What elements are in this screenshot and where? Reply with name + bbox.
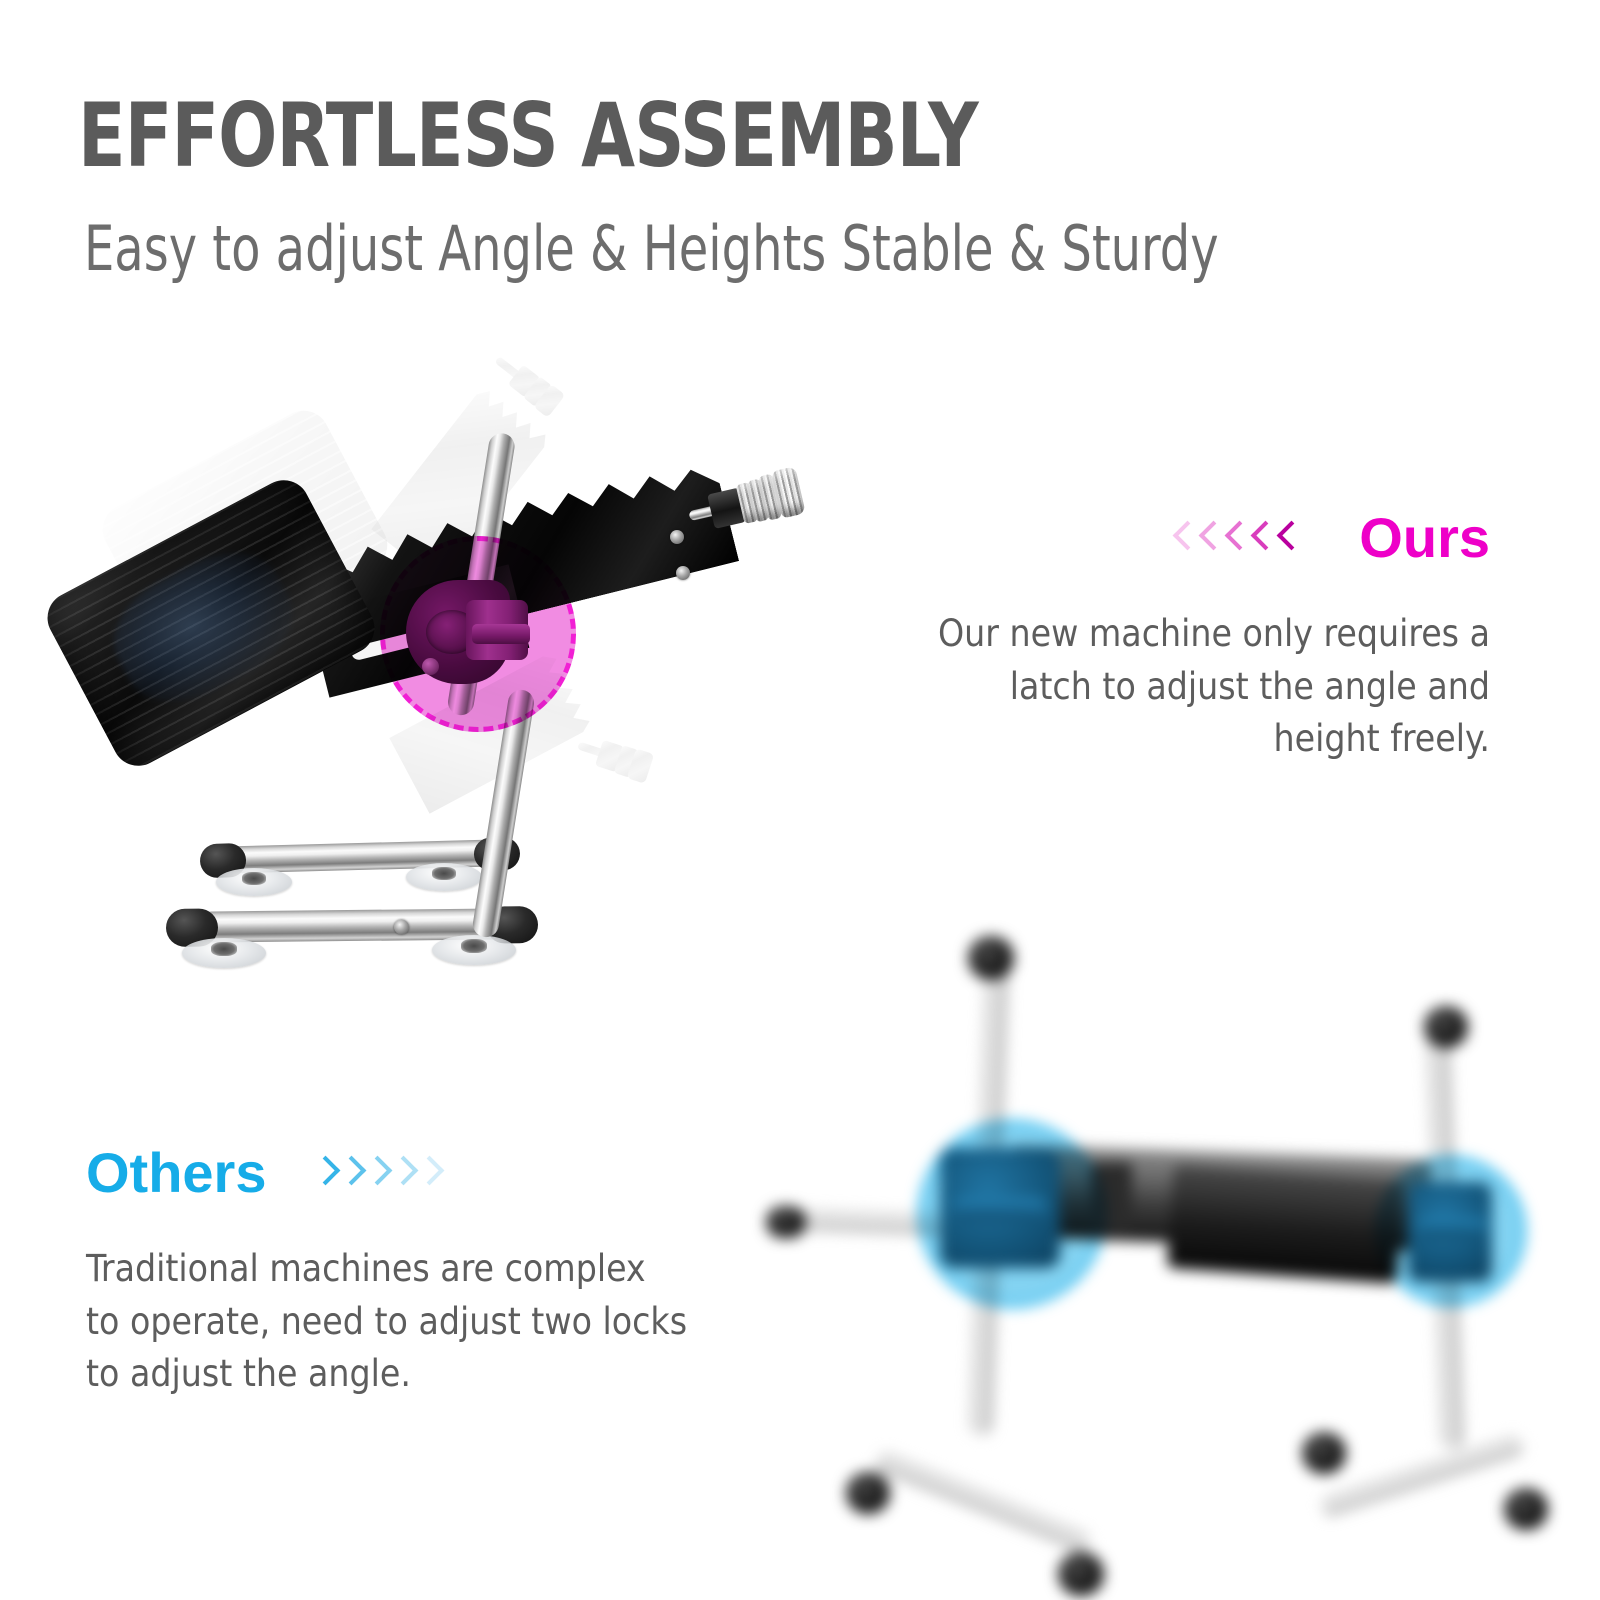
latch-highlight [380,536,576,732]
competitor-end-cap [968,936,1014,980]
chevron-left-icon [1198,520,1224,558]
competitor-foot-tube-left [873,1450,1094,1555]
chevron-left-icon [1276,520,1302,558]
plate-rivet [676,566,690,580]
ours-chevron-group [1172,520,1302,558]
others-label: Others [86,1140,267,1205]
chevron-left-icon [1250,520,1276,558]
chevron-right-icon [388,1155,414,1193]
suction-foot [182,938,266,968]
competitor-body-detail [1167,1164,1404,1284]
suction-foot [432,935,516,965]
product-image-others [740,880,1570,1580]
ours-description: Our new machine only requires a latch to… [920,608,1490,766]
others-chevron-group [310,1155,440,1193]
chevron-left-icon [1224,520,1250,558]
competitor-end-cap [766,1206,806,1238]
competitor-end-cap [1302,1432,1346,1474]
page-subtitle: Easy to adjust Angle & Heights Stable & … [84,212,1219,285]
plate-rivet [670,530,684,544]
chevron-right-icon [310,1155,336,1193]
ghost-knob-2 [573,730,661,788]
suction-foot [216,868,292,896]
chevron-right-icon [362,1155,388,1193]
lock-highlight-right [1376,1156,1526,1306]
frame-screw [394,919,409,934]
cushion-reflection [95,531,311,723]
product-image-ours [48,300,788,1040]
ours-label: Ours [1359,505,1490,570]
others-description: Traditional machines are complex to oper… [86,1243,786,1401]
competitor-end-cap [1424,1006,1468,1048]
suction-foot [406,863,482,891]
competitor-end-cap [1504,1488,1548,1530]
competitor-end-cap [846,1472,890,1514]
lock-highlight-left [918,1120,1106,1308]
chevron-right-icon [414,1155,440,1193]
chevron-left-icon [1172,520,1198,558]
page-title: EFFORTLESS ASSEMBLY [78,84,978,187]
competitor-end-cap [1058,1552,1104,1596]
competitor-foot-tube-right [1318,1434,1526,1519]
chevron-right-icon [336,1155,362,1193]
